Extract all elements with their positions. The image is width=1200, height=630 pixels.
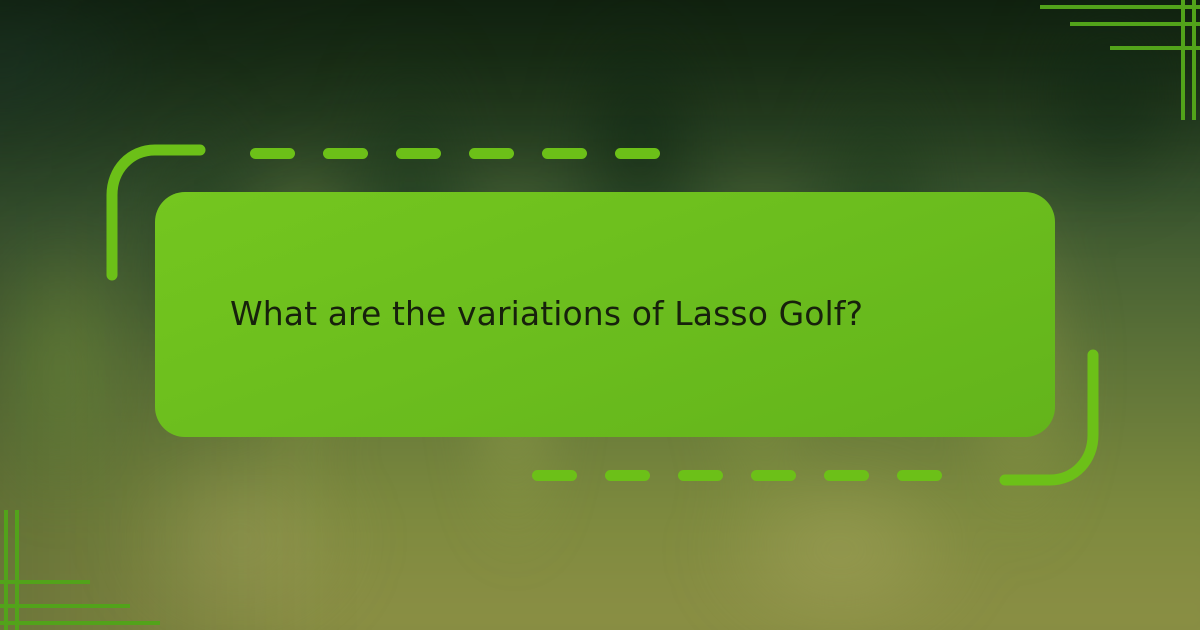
corner-grid-top-right [1040, 0, 1200, 120]
corner-grid-bottom-left [0, 510, 160, 630]
dash [615, 148, 660, 159]
page-title: What are the variations of Lasso Golf? [155, 293, 938, 336]
dash [323, 148, 368, 159]
dash [469, 148, 514, 159]
dashed-line-bottom [532, 470, 942, 481]
dash [897, 470, 942, 481]
dash [751, 470, 796, 481]
dash [542, 148, 587, 159]
dash [678, 470, 723, 481]
dash [250, 148, 295, 159]
screenshot-canvas: What are the variations of Lasso Golf? [0, 0, 1200, 630]
dash [605, 470, 650, 481]
dashed-line-top [250, 148, 660, 159]
dash [532, 470, 577, 481]
question-card: What are the variations of Lasso Golf? [155, 192, 1055, 437]
dash [396, 148, 441, 159]
dash [824, 470, 869, 481]
